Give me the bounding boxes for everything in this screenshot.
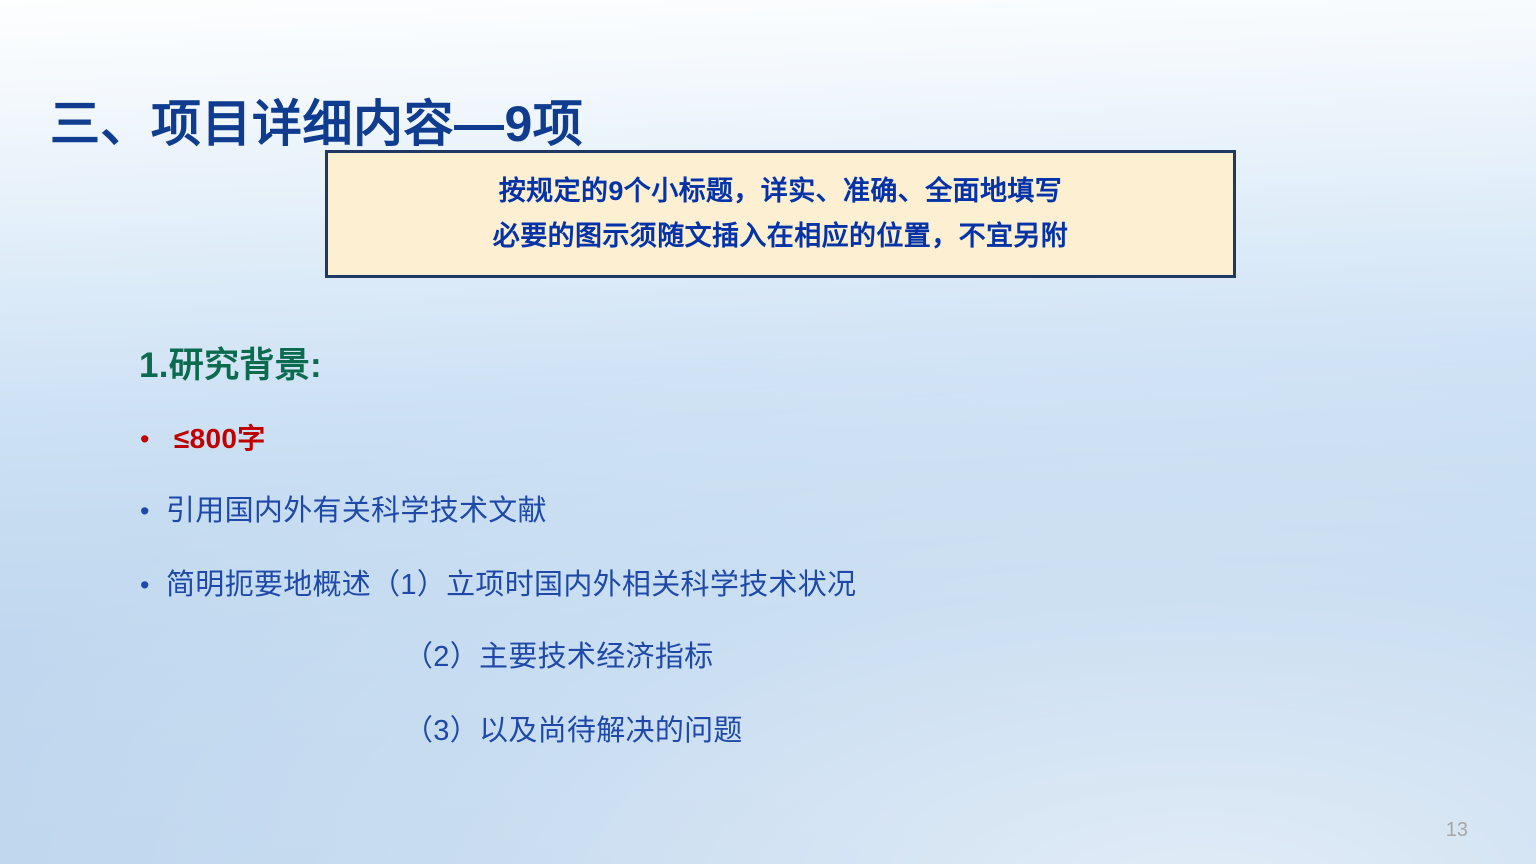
bullet-marker-icon: • (140, 572, 166, 599)
list-item-label: 简明扼要地概述（1）立项时国内外相关科学技术状况 (166, 568, 856, 603)
list-item: • 简明扼要地概述（1）立项时国内外相关科学技术状况 (140, 568, 856, 603)
list-item: • 引用国内外有关科学技术文献 (140, 494, 547, 529)
callout-line-2: 必要的图示须随文插入在相应的位置，不宜另附 (493, 221, 1068, 252)
list-item-label: 引用国内外有关科学技术文献 (166, 494, 547, 529)
page-title: 三、项目详细内容—9项 (50, 97, 583, 152)
sub-list-item: （2）主要技术经济指标 (404, 640, 713, 675)
callout-box: 按规定的9个小标题，详实、准确、全面地填写 必要的图示须随文插入在相应的位置，不… (325, 150, 1236, 278)
bullet-marker-icon: • (140, 426, 166, 453)
page-number: 13 (1446, 819, 1468, 842)
list-item-label: ≤800字 (166, 422, 266, 456)
sub-list-item: （3）以及尚待解决的问题 (404, 714, 743, 749)
callout-line-1: 按规定的9个小标题，详实、准确、全面地填写 (499, 176, 1062, 207)
presentation-slide: 三、项目详细内容—9项 按规定的9个小标题，详实、准确、全面地填写 必要的图示须… (0, 0, 1536, 864)
section-heading: 1.研究背景: (139, 337, 322, 388)
bullet-marker-icon: • (140, 498, 166, 525)
list-item: • ≤800字 (140, 422, 266, 456)
